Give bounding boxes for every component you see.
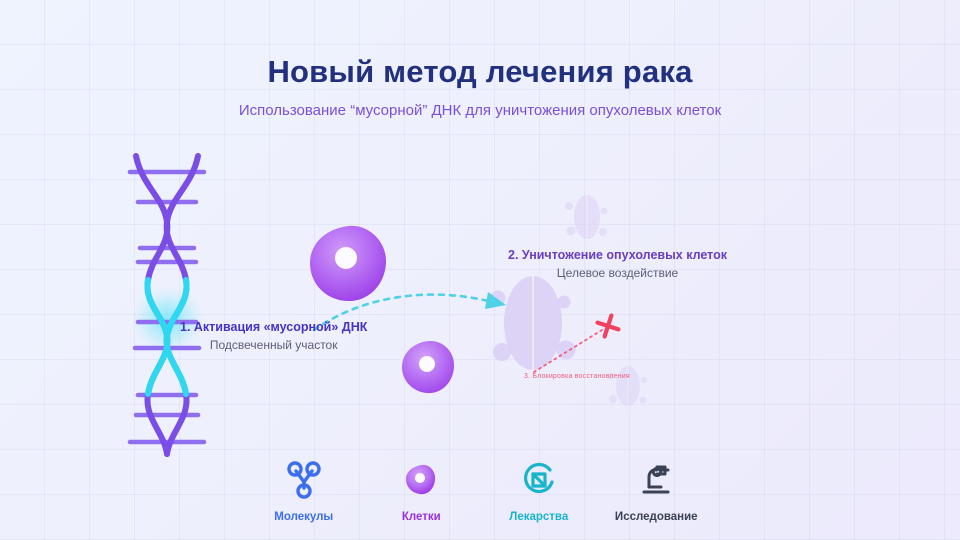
molecule-icon [245,458,363,502]
cell-icon [363,458,481,502]
microscope-icon [598,458,716,502]
activated-cell-small [398,338,458,396]
step-2-title: 2. Уничтожение опухолевых клеток [508,248,727,262]
legend-item-molecules[interactable]: Молекулы [245,458,363,523]
step-2-label: 2. Уничтожение опухолевых клеток Целевое… [508,248,727,280]
legend-label-medicine: Лекарства [480,511,598,523]
legend-item-research[interactable]: Исследование [598,458,716,523]
slide-canvas: Новый метод лечения рака Использование “… [0,0,960,540]
legend-label-cells: Клетки [363,511,481,523]
decorative-tumor-cell-top [563,186,611,248]
legend-label-molecules: Молекулы [245,511,363,523]
header: Новый метод лечения рака Использование “… [0,54,960,119]
legend-item-cells[interactable]: Клетки [363,458,481,523]
medicine-icon [480,458,598,502]
dna-helix [112,150,222,460]
step-1-subtitle: Подсвеченный участок [180,338,367,352]
repair-block-marker [528,310,632,378]
legend-label-research: Исследование [598,511,716,523]
page-subtitle: Использование “мусорной” ДНК для уничтож… [0,102,960,119]
legend-item-medicine[interactable]: Лекарства [480,458,598,523]
step-1-title: 1. Активация «мусорной» ДНК [180,320,367,334]
legend-row: Молекулы Клетки [245,458,715,523]
page-title: Новый метод лечения рака [0,54,960,90]
step-2-subtitle: Целевое воздействие [508,266,727,280]
step-3-title: 3. Блокировка восстановления [524,373,630,380]
step-1-label: 1. Активация «мусорной» ДНК Подсвеченный… [180,320,367,352]
